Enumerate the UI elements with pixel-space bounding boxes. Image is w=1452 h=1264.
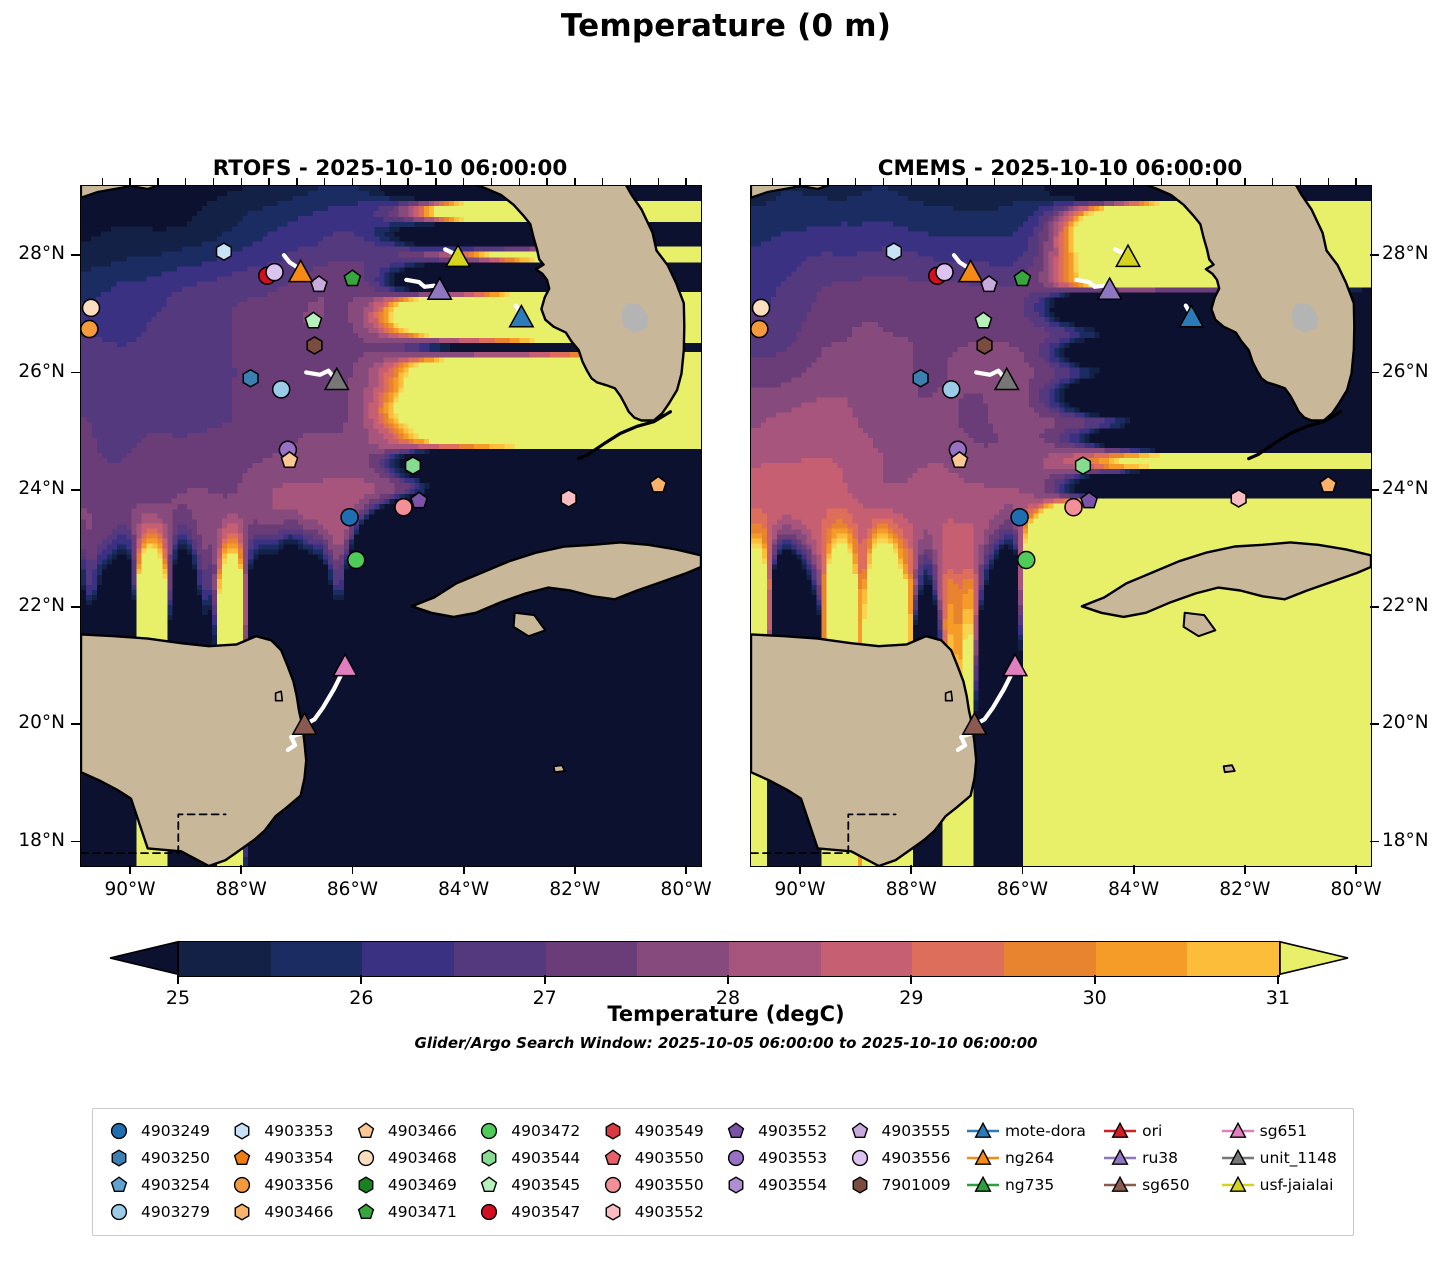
map-field	[751, 186, 1371, 866]
xtick-minor	[855, 178, 856, 185]
legend-row: 49032794903466490347149035474903552	[101, 1198, 1347, 1225]
map-marker-4903550[interactable]	[1065, 499, 1082, 516]
legend-item-label: 4903356	[260, 1176, 333, 1194]
legend-item-4903249[interactable]: 4903249	[101, 1117, 224, 1144]
xtick-minor	[102, 178, 103, 185]
colorbar-tick	[1277, 975, 1279, 984]
legend-item-label: 4903550	[631, 1149, 704, 1167]
legend-item-label: 4903552	[754, 1122, 827, 1140]
legend-item-label: 4903468	[384, 1149, 457, 1167]
legend-item-label: 4903250	[137, 1149, 210, 1167]
legend-item-7901009[interactable]: 7901009	[842, 1171, 965, 1198]
legend-item-ng264[interactable]: ng264	[965, 1144, 1102, 1171]
legend-item-label: 4903472	[507, 1122, 580, 1140]
legend-item-label: sg650	[1138, 1176, 1190, 1194]
xtick-minor	[799, 178, 800, 185]
legend-row: 4903249490335349034664903472490354949035…	[101, 1117, 1347, 1144]
legend-item-4903472[interactable]: 4903472	[471, 1117, 594, 1144]
xtick-minor	[658, 178, 659, 185]
xtick-minor	[157, 178, 158, 185]
colorbar-segment	[637, 942, 729, 976]
legend-item-4903466[interactable]: 4903466	[348, 1117, 471, 1144]
map-marker-4903556[interactable]	[266, 264, 283, 281]
xtick-minor	[324, 178, 325, 185]
legend-item-label: ng264	[1001, 1149, 1054, 1167]
legend-triangle-line-icon	[965, 1147, 1001, 1169]
legend-item-mote-dora[interactable]: mote-dora	[965, 1117, 1102, 1144]
xtick-minor	[1216, 178, 1217, 185]
colorbar-extend-max-icon	[1278, 941, 1348, 975]
xtick-minor	[994, 178, 995, 185]
xtick-mark	[1244, 865, 1246, 874]
xtick-minor	[685, 178, 686, 185]
map-marker-4903544[interactable]	[1076, 457, 1091, 474]
legend-triangle-line-icon	[1102, 1174, 1138, 1196]
legend-item-label: sg651	[1256, 1122, 1308, 1140]
legend-hexagon-icon	[224, 1120, 260, 1142]
legend-item-label: 4903555	[878, 1122, 951, 1140]
ytick-label-rtofs-0: 18°N	[0, 830, 65, 851]
legend-item-4903466[interactable]: 4903466	[224, 1198, 347, 1225]
ytick-label-rtofs-2: 22°N	[0, 595, 65, 616]
search-window-note: Glider/Argo Search Window: 2025-10-05 06…	[0, 1034, 1452, 1052]
legend-triangle-line-icon	[1220, 1174, 1256, 1196]
xtick-mark	[463, 865, 465, 874]
ytick-label-cmems-1: 20°N	[1382, 712, 1452, 733]
ytick-mark	[71, 489, 80, 491]
map-marker-4903356[interactable]	[751, 321, 768, 338]
legend-item-label: 4903469	[384, 1176, 457, 1194]
colorbar-segment	[1004, 942, 1096, 976]
xtick-minor	[268, 178, 269, 185]
ytick-label-cmems-5: 28°N	[1382, 243, 1452, 264]
legend-item-4903471[interactable]: 4903471	[348, 1198, 471, 1225]
legend-item-label: 4903552	[631, 1203, 704, 1221]
legend-pentagon-icon	[842, 1120, 878, 1142]
legend-row: 4903254490335649034694903545490355049035…	[101, 1171, 1347, 1198]
xtick-minor	[911, 178, 912, 185]
legend-item-label: 4903279	[137, 1203, 210, 1221]
ytick-mark	[71, 841, 80, 843]
legend-item-label: ori	[1138, 1122, 1162, 1140]
xtick-minor	[1050, 178, 1051, 185]
figure-title: Temperature (0 m)	[0, 8, 1452, 44]
map-panel-cmems[interactable]	[750, 185, 1372, 867]
ytick-label-rtofs-1: 20°N	[0, 712, 65, 733]
xtick-minor	[352, 178, 353, 185]
xtick-minor	[213, 178, 214, 185]
colorbar-segment	[1096, 942, 1188, 976]
legend-triangle-line-icon	[1220, 1120, 1256, 1142]
xtick-mark	[574, 865, 576, 874]
legend-pentagon-icon	[595, 1147, 631, 1169]
colorbar-segment	[821, 942, 913, 976]
legend-item-4903550[interactable]: 4903550	[595, 1171, 718, 1198]
xtick-minor	[883, 178, 884, 185]
xtick-minor	[463, 178, 464, 185]
legend-circle-icon	[101, 1120, 137, 1142]
xtick-minor	[519, 178, 520, 185]
xtick-mark	[240, 865, 242, 874]
legend-item-4903552[interactable]: 4903552	[595, 1198, 718, 1225]
legend-pentagon-icon	[348, 1201, 384, 1223]
xtick-minor	[1077, 178, 1078, 185]
legend-item-label: unit_1148	[1256, 1149, 1337, 1167]
legend-item-4903353[interactable]: 4903353	[224, 1117, 347, 1144]
xtick-minor	[602, 178, 603, 185]
legend-item-4903544[interactable]: 4903544	[471, 1144, 594, 1171]
xtick-label-cmems-0: 90°W	[760, 879, 840, 900]
ytick-label-cmems-4: 26°N	[1382, 361, 1452, 382]
colorbar[interactable]: 25262728293031	[110, 941, 1342, 975]
xtick-mark	[352, 865, 354, 874]
legend-triangle-line-icon	[965, 1174, 1001, 1196]
legend-item-ng735[interactable]: ng735	[965, 1171, 1102, 1198]
xtick-minor	[491, 178, 492, 185]
xtick-minor	[129, 178, 130, 185]
colorbar-segment	[729, 942, 821, 976]
legend-item-4903356[interactable]: 4903356	[224, 1171, 347, 1198]
legend-circle-icon	[101, 1201, 137, 1223]
map-marker-4903279[interactable]	[943, 381, 960, 398]
legend-item-4903550[interactable]: 4903550	[595, 1144, 718, 1171]
xtick-mark	[685, 865, 687, 874]
legend-item-label: 4903254	[137, 1176, 210, 1194]
legend-item-4903549[interactable]: 4903549	[595, 1117, 718, 1144]
legend-circle-icon	[224, 1174, 260, 1196]
ytick-mark	[1370, 841, 1379, 843]
xtick-minor	[380, 178, 381, 185]
map-marker-4903552b[interactable]	[1231, 490, 1246, 507]
xtick-minor	[1272, 178, 1273, 185]
colorbar-segment	[271, 942, 363, 976]
legend-pentagon-icon	[348, 1120, 384, 1142]
xtick-minor	[938, 178, 939, 185]
xtick-minor	[185, 178, 186, 185]
legend-hexagon-icon	[595, 1120, 631, 1142]
legend-circle-icon	[471, 1120, 507, 1142]
colorbar-segment	[362, 942, 454, 976]
xtick-label-cmems-4: 82°W	[1205, 879, 1285, 900]
panel-title-rtofs: RTOFS - 2025-10-10 06:00:00	[80, 156, 700, 181]
ytick-mark	[71, 723, 80, 725]
xtick-label-rtofs-3: 84°W	[424, 879, 504, 900]
legend-hexagon-icon	[224, 1201, 260, 1223]
xtick-mark	[799, 865, 801, 874]
xtick-minor	[574, 178, 575, 185]
legend-item-4903556[interactable]: 4903556	[842, 1144, 965, 1171]
legend-item-4903279[interactable]: 4903279	[101, 1198, 224, 1225]
xtick-minor	[296, 178, 297, 185]
legend-item-label: mote-dora	[1001, 1122, 1086, 1140]
legend-item-label: 7901009	[878, 1176, 951, 1194]
legend-item-label: usf-jaialai	[1256, 1176, 1334, 1194]
legend-triangle-line-icon	[1102, 1147, 1138, 1169]
xtick-minor	[827, 178, 828, 185]
legend-hexagon-icon	[718, 1174, 754, 1196]
colorbar-tick	[910, 975, 912, 984]
legend-item-label: 4903553	[754, 1149, 827, 1167]
legend-item-label: 4903556	[878, 1149, 951, 1167]
xtick-minor	[241, 178, 242, 185]
xtick-minor	[435, 178, 436, 185]
map-marker-4903556[interactable]	[936, 264, 953, 281]
legend-item-usf-jaialai[interactable]: usf-jaialai	[1220, 1171, 1347, 1198]
legend[interactable]: 4903249490335349034664903472490354949035…	[92, 1108, 1354, 1236]
colorbar-gradient	[178, 941, 1280, 977]
legend-triangle-line-icon	[965, 1120, 1001, 1142]
colorbar-tick	[1094, 975, 1096, 984]
legend-circle-icon	[595, 1174, 631, 1196]
xtick-minor	[1161, 178, 1162, 185]
map-marker-4903250[interactable]	[243, 370, 258, 387]
map-marker-4903279[interactable]	[273, 381, 290, 398]
figure-canvas: Temperature (0 m) RTOFS - 2025-10-10 06:…	[0, 0, 1452, 1264]
map-marker-4903468[interactable]	[753, 299, 770, 316]
ytick-label-rtofs-5: 28°N	[0, 243, 65, 264]
xtick-label-cmems-2: 86°W	[982, 879, 1062, 900]
legend-triangle-line-icon	[1102, 1120, 1138, 1142]
xtick-label-rtofs-0: 90°W	[90, 879, 170, 900]
legend-circle-icon	[471, 1201, 507, 1223]
legend-item-4903547[interactable]: 4903547	[471, 1198, 594, 1225]
legend-item-4903250[interactable]: 4903250	[101, 1144, 224, 1171]
legend-item-4903554[interactable]: 4903554	[718, 1171, 841, 1198]
ytick-label-rtofs-4: 26°N	[0, 361, 65, 382]
map-marker-4903552b[interactable]	[561, 490, 576, 507]
legend-item-4903553[interactable]: 4903553	[718, 1144, 841, 1171]
ytick-mark	[1370, 254, 1379, 256]
xtick-minor	[1022, 178, 1023, 185]
xtick-minor	[546, 178, 547, 185]
map-marker-7901009[interactable]	[977, 337, 992, 354]
legend-item-sg651[interactable]: sg651	[1220, 1117, 1347, 1144]
legend-row: 4903250490335449034684903544490355049035…	[101, 1144, 1347, 1171]
xtick-minor	[772, 178, 773, 185]
colorbar-tick	[727, 975, 729, 984]
colorbar-tick	[177, 975, 179, 984]
colorbar-segment	[454, 942, 546, 976]
xtick-minor	[1105, 178, 1106, 185]
legend-item-label: 4903545	[507, 1176, 580, 1194]
colorbar-tick	[544, 975, 546, 984]
panel-title-cmems: CMEMS - 2025-10-10 06:00:00	[750, 156, 1370, 181]
ytick-mark	[71, 254, 80, 256]
legend-item-label: 4903550	[631, 1176, 704, 1194]
legend-item-ori[interactable]: ori	[1102, 1117, 1220, 1144]
legend-hexagon-icon	[101, 1147, 137, 1169]
legend-item-sg650[interactable]: sg650	[1102, 1171, 1220, 1198]
map-marker-4903468[interactable]	[83, 299, 100, 316]
legend-item-label: 4903249	[137, 1122, 210, 1140]
xtick-minor	[407, 178, 408, 185]
colorbar-segment	[179, 942, 271, 976]
xtick-mark	[1355, 865, 1357, 874]
xtick-mark	[129, 865, 131, 874]
xtick-minor	[966, 178, 967, 185]
map-field	[81, 186, 701, 866]
ytick-mark	[1370, 489, 1379, 491]
xtick-label-rtofs-1: 88°W	[201, 879, 281, 900]
legend-pentagon-icon	[101, 1174, 137, 1196]
map-marker-4903472[interactable]	[348, 552, 365, 569]
legend-hexagon-icon	[842, 1174, 878, 1196]
legend-item-4903468[interactable]: 4903468	[348, 1144, 471, 1171]
ytick-mark	[71, 372, 80, 374]
map-marker-4903353[interactable]	[217, 243, 232, 260]
map-marker-4903249[interactable]	[1011, 509, 1028, 526]
colorbar-title: Temperature (degC)	[0, 1002, 1452, 1026]
map-marker-4903249[interactable]	[341, 509, 358, 526]
xtick-minor	[1355, 178, 1356, 185]
colorbar-segment	[1187, 942, 1279, 976]
legend-item-4903469[interactable]: 4903469	[348, 1171, 471, 1198]
map-marker-4903544[interactable]	[406, 457, 421, 474]
ytick-label-cmems-0: 18°N	[1382, 830, 1452, 851]
ytick-mark	[1370, 372, 1379, 374]
xtick-mark	[1022, 865, 1024, 874]
legend-item-label: 4903554	[754, 1176, 827, 1194]
colorbar-tick	[360, 975, 362, 984]
legend-item-4903545[interactable]: 4903545	[471, 1171, 594, 1198]
legend-pentagon-icon	[224, 1147, 260, 1169]
colorbar-segment	[912, 942, 1004, 976]
legend-item-label: 4903354	[260, 1149, 333, 1167]
xtick-label-cmems-5: 80°W	[1316, 879, 1396, 900]
legend-item-label: ng735	[1001, 1176, 1054, 1194]
legend-item-label: 4903544	[507, 1149, 580, 1167]
ytick-mark	[1370, 606, 1379, 608]
legend-circle-icon	[842, 1147, 878, 1169]
xtick-label-rtofs-4: 82°W	[535, 879, 615, 900]
legend-item-unit_1148[interactable]: unit_1148	[1220, 1144, 1347, 1171]
map-marker-4903356[interactable]	[81, 321, 98, 338]
legend-triangle-line-icon	[1220, 1147, 1256, 1169]
map-marker-4903353[interactable]	[887, 243, 902, 260]
legend-item-4903354[interactable]: 4903354	[224, 1144, 347, 1171]
xtick-label-cmems-1: 88°W	[871, 879, 951, 900]
map-marker-4903550[interactable]	[395, 499, 412, 516]
legend-circle-icon	[718, 1147, 754, 1169]
legend-pentagon-icon	[718, 1120, 754, 1142]
legend-hexagon-icon	[595, 1201, 631, 1223]
ytick-label-rtofs-3: 24°N	[0, 478, 65, 499]
colorbar-segment	[546, 942, 638, 976]
xtick-minor	[1189, 178, 1190, 185]
legend-item-4903254[interactable]: 4903254	[101, 1171, 224, 1198]
colorbar-extend-min-icon	[110, 941, 180, 975]
legend-pentagon-icon	[471, 1174, 507, 1196]
legend-circle-icon	[348, 1147, 384, 1169]
map-panel-rtofs[interactable]	[80, 185, 702, 867]
xtick-label-rtofs-5: 80°W	[646, 879, 726, 900]
legend-item-ru38[interactable]: ru38	[1102, 1144, 1220, 1171]
xtick-label-rtofs-2: 86°W	[312, 879, 392, 900]
legend-hexagon-icon	[348, 1174, 384, 1196]
xtick-minor	[1133, 178, 1134, 185]
xtick-label-cmems-3: 84°W	[1094, 879, 1174, 900]
xtick-minor	[630, 178, 631, 185]
legend-item-label: 4903466	[384, 1122, 457, 1140]
map-marker-4903472[interactable]	[1018, 552, 1035, 569]
xtick-minor	[1328, 178, 1329, 185]
legend-item-4903555[interactable]: 4903555	[842, 1117, 965, 1144]
ytick-label-cmems-2: 22°N	[1382, 595, 1452, 616]
legend-hexagon-icon	[471, 1147, 507, 1169]
legend-item-label: 4903549	[631, 1122, 704, 1140]
legend-item-4903552[interactable]: 4903552	[718, 1117, 841, 1144]
xtick-mark	[1133, 865, 1135, 874]
ytick-mark	[1370, 723, 1379, 725]
legend-item-label: 4903547	[507, 1203, 580, 1221]
legend-item-label: ru38	[1138, 1149, 1178, 1167]
ytick-label-cmems-3: 24°N	[1382, 478, 1452, 499]
xtick-minor	[1300, 178, 1301, 185]
legend-item-label: 4903353	[260, 1122, 333, 1140]
legend-item-label: 4903466	[260, 1203, 333, 1221]
legend-item-label: 4903471	[384, 1203, 457, 1221]
xtick-mark	[910, 865, 912, 874]
ytick-mark	[71, 606, 80, 608]
map-marker-7901009[interactable]	[307, 337, 322, 354]
xtick-minor	[1244, 178, 1245, 185]
map-marker-4903250[interactable]	[913, 370, 928, 387]
